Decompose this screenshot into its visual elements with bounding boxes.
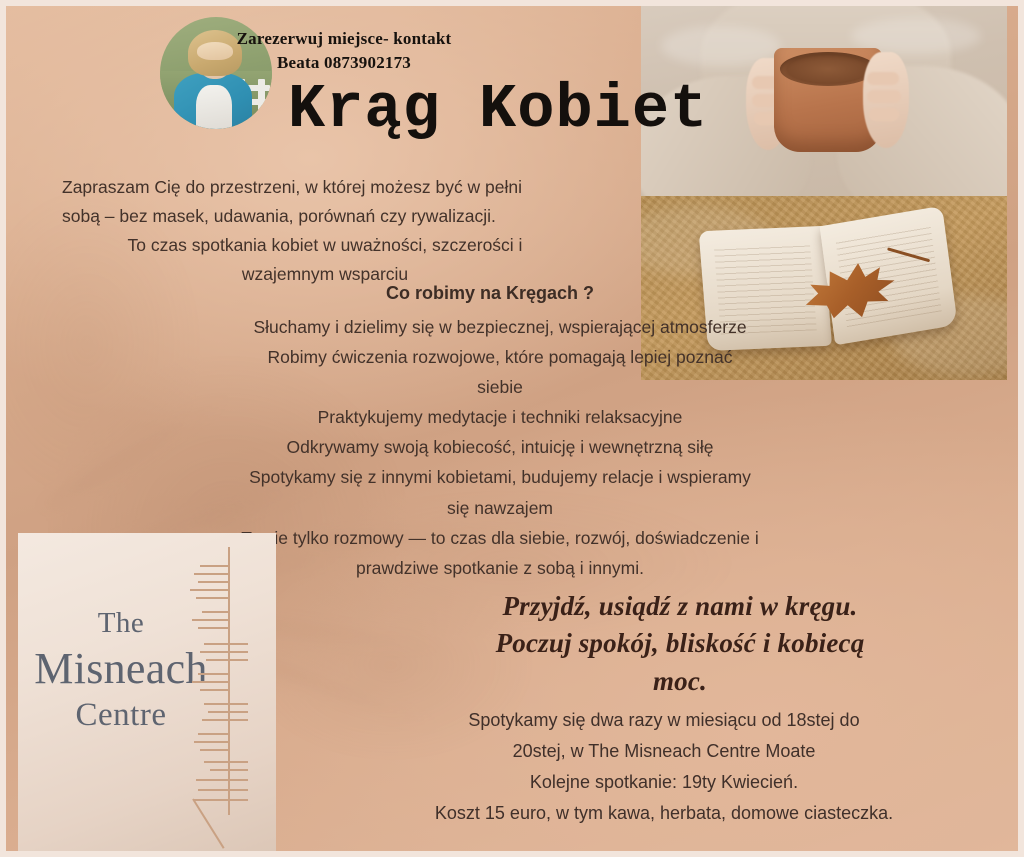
poster-canvas: Zarezerwuj miejsce- kontakt Beata 087390… <box>0 0 1024 857</box>
activity-line-3: siebie <box>150 372 850 402</box>
cta-line-2: Poczuj spokój, bliskość i kobiecą <box>370 625 990 662</box>
details-line-cost: Koszt 15 euro, w tym kawa, herbata, domo… <box>330 798 998 829</box>
misneach-centre-logo-panel: The Misneach Centre <box>18 533 276 851</box>
intro-line-1: Zapraszam Cię do przestrzeni, w której m… <box>40 173 610 202</box>
activity-line-6: Spotykamy się z innymi kobietami, buduje… <box>150 462 850 492</box>
meeting-details: Spotykamy się dwa razy w miesiącu od 18s… <box>330 705 998 829</box>
avatar-shirt-shape <box>196 85 232 129</box>
activity-line-1: Słuchamy i dzielimy się w bezpiecznej, w… <box>150 312 850 342</box>
intro-line-2: sobą – bez masek, udawania, porównań czy… <box>40 202 610 231</box>
page-title: Krąg Kobiet <box>288 74 788 145</box>
details-line-next-date: Kolejne spotkanie: 19ty Kwiecień. <box>330 767 998 798</box>
activity-line-2: Robimy ćwiczenia rozwojowe, które pomaga… <box>150 342 850 372</box>
ogham-line-mark-icon <box>176 547 250 843</box>
intro-line-3: To czas spotkania kobiet w uważności, sz… <box>40 231 610 260</box>
contact-line-booking: Zarezerwuj miejsce- kontakt <box>214 27 474 51</box>
details-line-schedule: Spotykamy się dwa razy w miesiącu od 18s… <box>330 705 998 736</box>
cta-line-3: moc. <box>370 663 990 700</box>
right-hand-shape <box>863 52 909 148</box>
cta-line-1: Przyjdź, usiądź z nami w kręgu. <box>370 588 990 625</box>
intro-paragraph: Zapraszam Cię do przestrzeni, w której m… <box>40 173 610 289</box>
activity-line-4: Praktykujemy medytacje i techniki relaks… <box>150 402 850 432</box>
contact-line-phone: Beata 0873902173 <box>214 51 474 75</box>
call-to-action: Przyjdź, usiądź z nami w kręgu. Poczuj s… <box>370 588 990 700</box>
details-line-venue: 20stej, w The Misneach Centre Moate <box>330 736 998 767</box>
activity-line-5: Odkrywamy swoją kobiecość, intuicję i we… <box>150 432 850 462</box>
activity-line-7: się nawzajem <box>150 493 850 523</box>
section-heading: Co robimy na Kręgach ? <box>170 283 810 304</box>
contact-block: Zarezerwuj miejsce- kontakt Beata 087390… <box>214 27 474 75</box>
